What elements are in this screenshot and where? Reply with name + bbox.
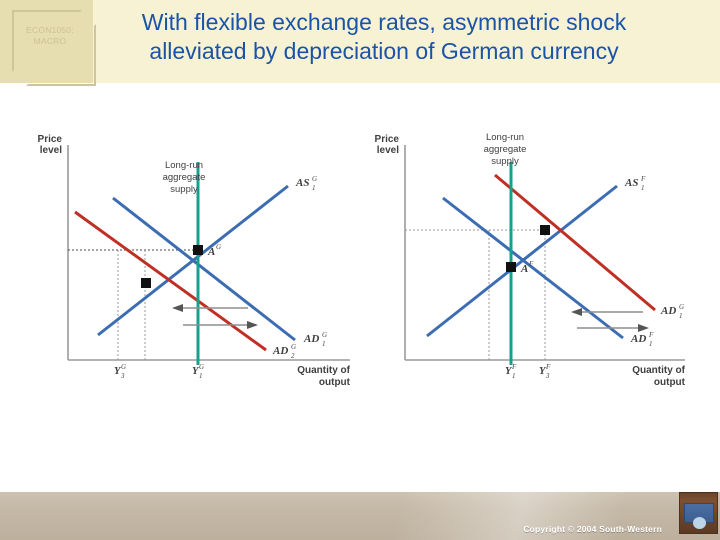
ad2-g-label: AD 2 G (272, 343, 296, 360)
x-axis-label-line-1: Quantity of (632, 365, 685, 376)
point-a-g-label: A G (207, 243, 221, 258)
figure-area: Price level Quantity of output Long-run … (0, 120, 720, 410)
corner-thumbnail-image (679, 492, 718, 534)
point-a-f-sup: F (528, 260, 534, 268)
x-axis-label-line-2: output (319, 377, 351, 388)
lras-label-line-2: aggregate (484, 144, 527, 155)
as1-f-label-text: AS (624, 177, 638, 189)
lras-label-line-1: Long-run (486, 132, 524, 143)
equilibrium-point-shifted (540, 225, 550, 235)
x-tick-y3-g-sub: 3 (120, 372, 125, 380)
ad1-f-label-text: AD (630, 333, 646, 345)
x-tick-y1-f: Y 1 F (505, 363, 517, 380)
x-tick-y3-g: Y 3 G (114, 363, 126, 380)
as1-g-label: AS 1 G (295, 175, 317, 192)
ad1-g-label-sup: G (322, 331, 327, 339)
point-a-f-text: A (520, 263, 528, 275)
ad1-g-label-text: AD (303, 333, 319, 345)
lras-label-line-1: Long-run (165, 160, 203, 171)
ad1-g-label: AD 1 G (303, 331, 327, 348)
x-tick-y1-g: Y 1 G (192, 363, 204, 380)
thumbnail-glass (684, 503, 714, 523)
thumbnail-highlight (693, 517, 706, 529)
y-axis-label-line-1: Price (375, 134, 400, 145)
as1-g-label-text: AS (295, 177, 309, 189)
ad1-g-label: AD 1 G (660, 303, 684, 320)
shift-arrow-right (183, 321, 258, 329)
ad1-g-curve (113, 198, 295, 340)
ad2-g-label-sub: 2 (291, 352, 295, 360)
shift-arrow-left (571, 308, 643, 316)
ad1-f-curve (443, 198, 623, 338)
ad2-g-label-sup: G (291, 343, 296, 351)
ad1-g-label-sub: 1 (322, 340, 326, 348)
y-axis-label-line-1: Price (38, 134, 63, 145)
x-tick-y3-f-sup: F (545, 363, 551, 371)
ad1-g-label-text: AD (660, 305, 676, 317)
slide: ECON1050: MACRO With flexible exchange r… (0, 0, 720, 540)
ad1-g-curve (495, 175, 655, 310)
x-tick-y1-f-sup: F (511, 363, 517, 371)
ad1-g-label-sup: G (679, 303, 684, 311)
as1-f-label-sup: F (640, 175, 646, 183)
x-tick-y3-f-sub: 3 (545, 372, 550, 380)
y-axis-label-line-2: level (377, 145, 399, 156)
equilibrium-point-shifted (141, 278, 151, 288)
chart-france-svg: Price level Quantity of output Long-run … (355, 120, 705, 410)
point-a-g-sup: G (216, 243, 221, 251)
lras-label-line-3: supply (491, 156, 519, 167)
point-a-g-text: A (207, 246, 215, 258)
lras-label-line-3: supply (170, 184, 198, 195)
ad1-g-label-sub: 1 (679, 312, 683, 320)
slide-title-line-1: With flexible exchange rates, asymmetric… (60, 8, 708, 37)
as1-f-label: AS 1 F (624, 175, 646, 192)
as1-f-label-sub: 1 (641, 184, 645, 192)
x-tick-y3-g-sup: G (121, 363, 126, 371)
slide-title: With flexible exchange rates, asymmetric… (60, 8, 708, 66)
ad1-f-label: AD 1 F (630, 331, 654, 348)
x-tick-y1-g-sup: G (199, 363, 204, 371)
x-tick-y1-f-sub: 1 (512, 372, 516, 380)
equilibrium-point-a-f (506, 262, 516, 272)
copyright-text: Copyright © 2004 South-Western (523, 524, 662, 534)
y-axis-label-line-2: level (40, 145, 62, 156)
lras-label-line-2: aggregate (163, 172, 206, 183)
x-axis-label-line-1: Quantity of (297, 365, 350, 376)
x-tick-y1-g-sub: 1 (199, 372, 203, 380)
chart-germany: Price level Quantity of output Long-run … (20, 120, 370, 410)
as1-g-label-sup: G (312, 175, 317, 183)
slide-title-line-2: alleviated by depreciation of German cur… (60, 37, 708, 66)
as1-g-label-sub: 1 (312, 184, 316, 192)
slide-header: ECON1050: MACRO With flexible exchange r… (0, 0, 720, 83)
ad1-f-label-sup: F (648, 331, 654, 339)
chart-germany-svg: Price level Quantity of output Long-run … (20, 120, 370, 410)
equilibrium-point-a-g (193, 245, 203, 255)
x-tick-y3-f: Y 3 F (539, 363, 551, 380)
point-a-f-label: A F (520, 260, 534, 275)
ad1-f-label-sub: 1 (649, 340, 653, 348)
ad2-g-label-text: AD (272, 345, 288, 357)
x-axis-label-line-2: output (654, 377, 686, 388)
chart-france: Price level Quantity of output Long-run … (355, 120, 705, 410)
